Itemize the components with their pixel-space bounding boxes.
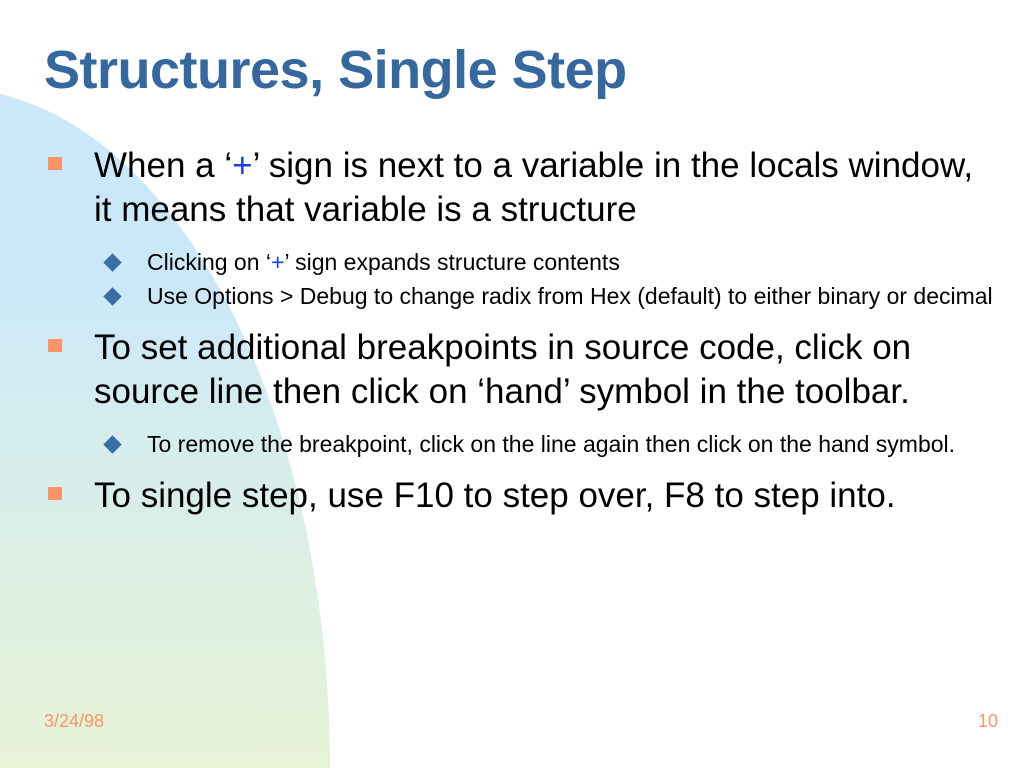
diamond-bullet-icon [103, 435, 121, 453]
bullet-item-level2: Use Options > Debug to change radix from… [44, 282, 994, 312]
bullet-item-level1: When a ‘+’ sign is next to a variable in… [44, 144, 994, 232]
bullet-item-level1: To single step, use F10 to step over, F8… [44, 474, 994, 518]
footer-page-number: 10 [978, 711, 998, 732]
bullet-text-part: ’ sign expands structure contents [284, 249, 619, 275]
diamond-bullet-icon [103, 253, 121, 271]
bullet-item-level2: To remove the breakpoint, click on the l… [44, 430, 994, 460]
bullet-text-part: When a ‘ [94, 146, 232, 185]
bullet-item-level2: Clicking on ‘+’ sign expands structure c… [44, 248, 994, 278]
bullet-item-level1: To set additional breakpoints in source … [44, 326, 994, 414]
bullet-text: To remove the breakpoint, click on the l… [147, 431, 955, 457]
plus-sign-highlight: + [271, 249, 284, 275]
presentation-slide: Structures, Single Step When a ‘+’ sign … [0, 0, 1024, 768]
square-bullet-icon [48, 487, 62, 500]
square-bullet-icon [48, 157, 62, 170]
square-bullet-icon [48, 339, 62, 352]
bullet-text: To single step, use F10 to step over, F8… [94, 476, 896, 515]
bullet-text-part: Clicking on ‘ [147, 249, 271, 275]
bullet-text: To set additional breakpoints in source … [94, 328, 911, 411]
diamond-bullet-icon [103, 287, 121, 305]
slide-body-content: When a ‘+’ sign is next to a variable in… [44, 144, 994, 522]
bullet-text: Use Options > Debug to change radix from… [147, 283, 993, 309]
footer-date: 3/24/98 [44, 711, 104, 732]
plus-sign-highlight: + [232, 146, 252, 185]
slide-title: Structures, Single Step [44, 42, 984, 98]
